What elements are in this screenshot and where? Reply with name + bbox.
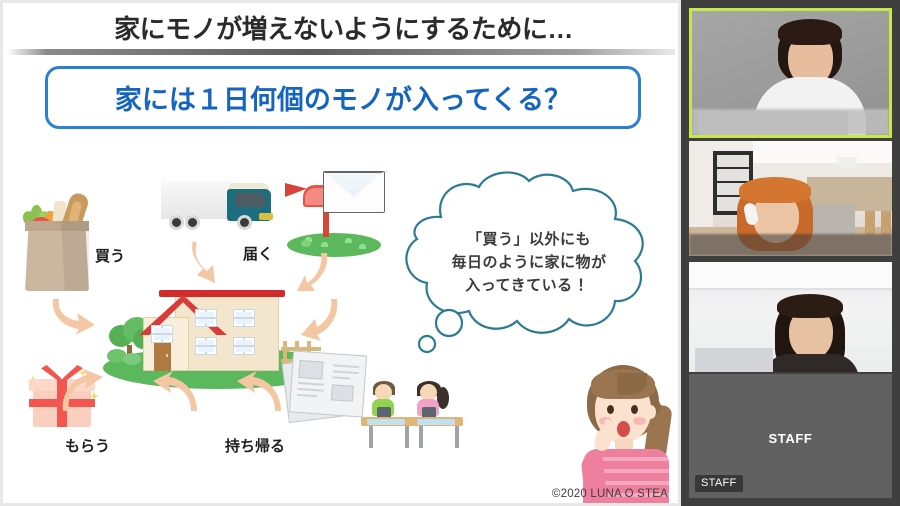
arrow-bag-to-house <box>51 295 97 337</box>
arrow-right-to-house <box>299 297 341 341</box>
students-desk-icon <box>361 379 469 447</box>
screen-root: 家にモノが増えないようにするために… 家には１日何個のモノが入ってくる？ 買う <box>0 0 900 506</box>
label-deliver: 届く <box>243 243 273 264</box>
bubble-line-1: 「買う」以外にも <box>413 229 645 252</box>
thought-bubble-text: 「買う」以外にも 毎日のように家に物が 入ってきている ！ <box>413 229 645 297</box>
bubble-line-2: 毎日のように家に物が <box>413 252 645 275</box>
video-feed-1 <box>692 11 889 135</box>
page-title: 家にモノが増えないようにするために… <box>3 5 681 49</box>
arrow-news-to-house <box>237 371 283 415</box>
tile-placeholder-name: STAFF <box>689 431 892 446</box>
thinking-woman-icon <box>569 359 681 505</box>
flow-diagram: 買う <box>3 133 681 506</box>
label-buy: 買う <box>95 245 125 266</box>
delivery-truck-icon <box>161 173 279 243</box>
envelope-icon <box>323 171 385 213</box>
question-text: 家には１日何個のモノが入ってくる？ <box>115 78 571 117</box>
participant-name-badge: STAFF <box>695 475 743 492</box>
label-receive: もらう <box>65 435 110 456</box>
video-tile-participant-2[interactable] <box>689 141 892 256</box>
video-participant-rail: STAFF STAFF <box>681 0 900 506</box>
video-feed-2 <box>689 141 892 256</box>
arrow-mail-to-house <box>285 251 331 295</box>
arrow-truck-to-house <box>191 241 231 285</box>
arrow-gift-to-house <box>59 369 103 413</box>
copyright-notice: ©2020 LUNA O STEA <box>552 488 668 500</box>
label-bring-home: 持ち帰る <box>225 435 285 456</box>
grocery-bag-icon <box>15 191 99 291</box>
question-banner: 家には１日何個のモノが入ってくる？ <box>45 66 641 129</box>
newspaper-icon <box>281 349 369 427</box>
video-tile-participant-4[interactable]: STAFF STAFF <box>689 374 892 498</box>
title-divider <box>7 49 675 55</box>
shared-slide: 家にモノが増えないようにするために… 家には１日何個のモノが入ってくる？ 買う <box>0 0 681 506</box>
video-feed-3 <box>689 262 892 372</box>
bubble-line-3: 入ってきている ！ <box>413 275 645 298</box>
video-tile-participant-1[interactable] <box>689 8 892 138</box>
thought-bubble: 「買う」以外にも 毎日のように家に物が 入ってきている ！ <box>383 171 673 353</box>
video-tile-participant-3[interactable] <box>689 262 892 372</box>
arrow-school-to-house <box>153 371 199 415</box>
